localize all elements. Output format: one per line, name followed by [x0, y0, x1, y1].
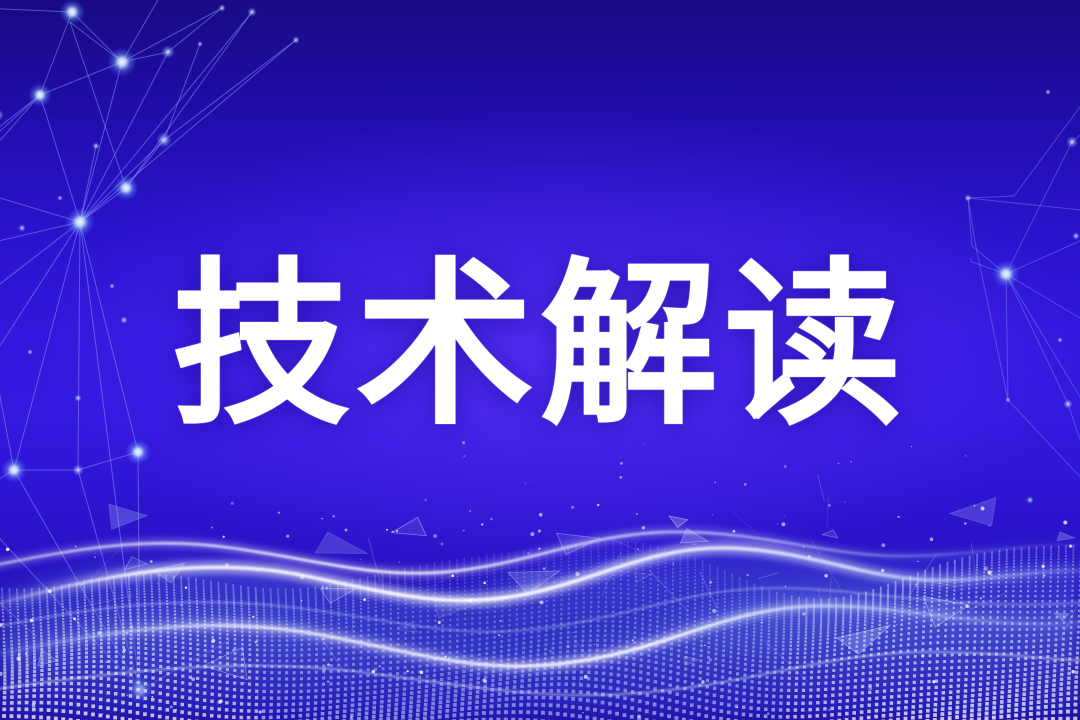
page-title: 技术解读 [172, 257, 908, 435]
headline-container: 技术解读 [0, 246, 1080, 446]
poster-canvas: 技术解读 [0, 0, 1080, 720]
